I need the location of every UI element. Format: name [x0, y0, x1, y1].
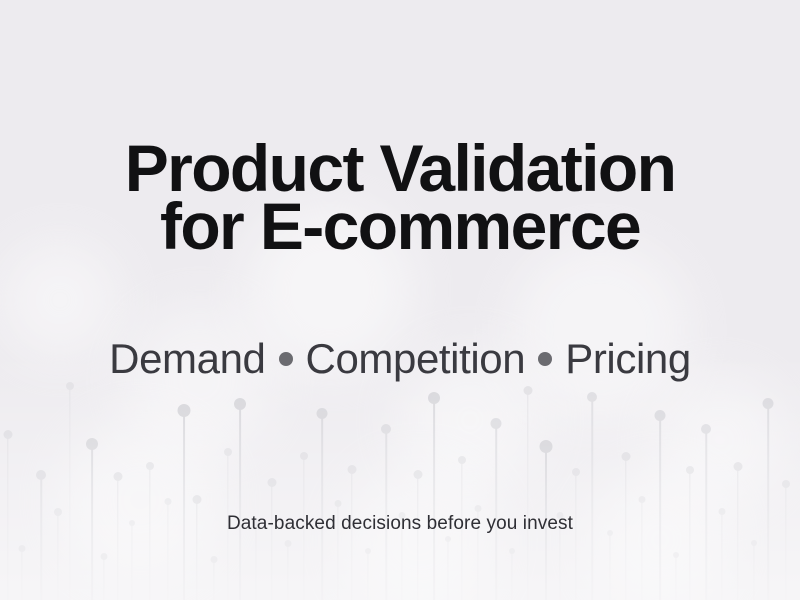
- footer-tagline: Data-backed decisions before you invest: [0, 511, 800, 537]
- subtitle-item-demand: Demand: [109, 335, 265, 382]
- subtitle-item-competition: Competition: [306, 335, 526, 382]
- slide-canvas: Product Validationfor E-commerce DemandC…: [0, 0, 800, 600]
- subtitle-pillars: DemandCompetitionPricing: [0, 335, 800, 383]
- subtitle-item-pricing: Pricing: [565, 335, 691, 382]
- bullet-dot-icon: [279, 352, 293, 366]
- slide-content: Product Validationfor E-commerce DemandC…: [0, 0, 800, 600]
- page-title: Product Validationfor E-commerce: [0, 139, 800, 255]
- page-title-line-2: for E-commerce: [0, 197, 800, 255]
- bullet-dot-icon: [538, 352, 552, 366]
